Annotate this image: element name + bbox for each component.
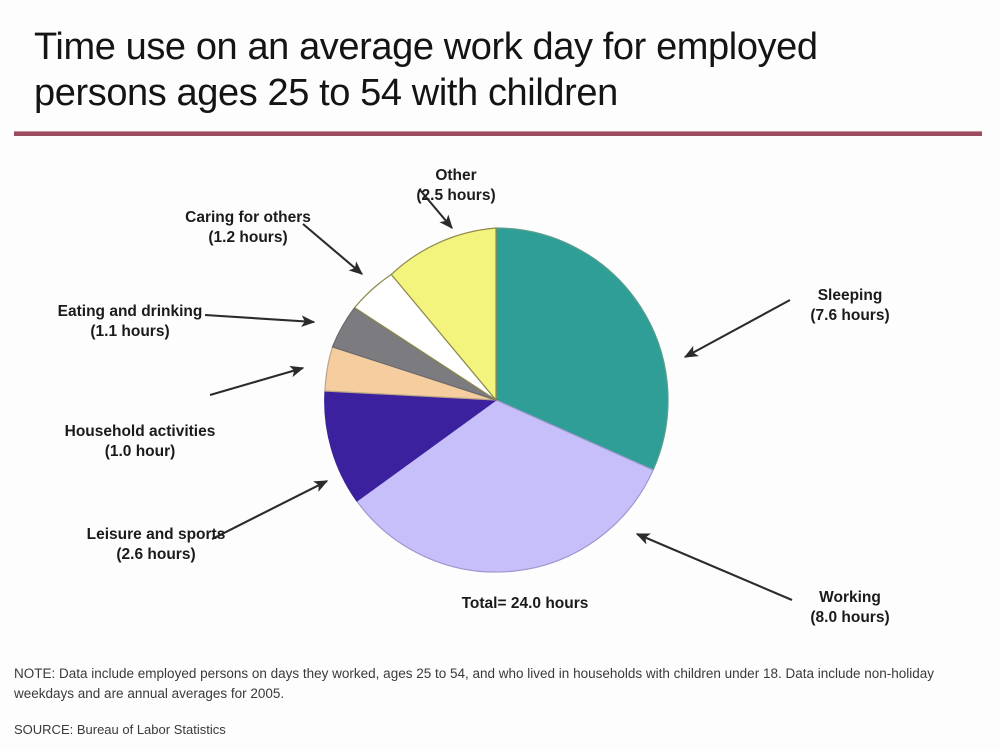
callout-other-value: (2.5 hours)	[386, 186, 526, 206]
callout-caring-name: Caring for others	[185, 209, 311, 226]
total-annotation: Total= 24.0 hours	[360, 595, 690, 613]
callout-eating-and-drinking: Eating and drinking (1.1 hours)	[10, 282, 250, 362]
callout-leisure-and-sports: Leisure and sports (2.6 hours)	[36, 505, 276, 585]
chart-page: Time use on an average work day for empl…	[0, 0, 1000, 750]
callout-household-value: (1.0 hour)	[20, 442, 260, 462]
callout-caring-for-others: Caring for others (1.2 hours)	[128, 188, 368, 268]
callout-household-name: Household activities	[65, 423, 216, 440]
leader-household	[210, 368, 303, 395]
callout-working: Working (8.0 hours)	[760, 568, 940, 648]
callout-leisure-name: Leisure and sports	[87, 526, 226, 543]
callout-household-activities: Household activities (1.0 hour)	[20, 402, 260, 482]
pie-slices	[325, 228, 668, 572]
callout-sleeping-value: (7.6 hours)	[760, 306, 940, 326]
callout-working-value: (8.0 hours)	[760, 608, 940, 628]
source-text: SOURCE: Bureau of Labor Statistics	[14, 722, 614, 737]
note-text: NOTE: Data include employed persons on d…	[14, 664, 974, 704]
callout-other: Other (2.5 hours)	[386, 146, 526, 226]
callout-leisure-value: (2.6 hours)	[36, 545, 276, 565]
callout-eating-value: (1.1 hours)	[10, 322, 250, 342]
callout-sleeping-name: Sleeping	[818, 287, 883, 304]
callout-working-name: Working	[819, 589, 881, 606]
callout-caring-value: (1.2 hours)	[128, 228, 368, 248]
callout-sleeping: Sleeping (7.6 hours)	[760, 266, 940, 346]
callout-other-name: Other	[435, 167, 476, 184]
callout-eating-name: Eating and drinking	[58, 303, 203, 320]
